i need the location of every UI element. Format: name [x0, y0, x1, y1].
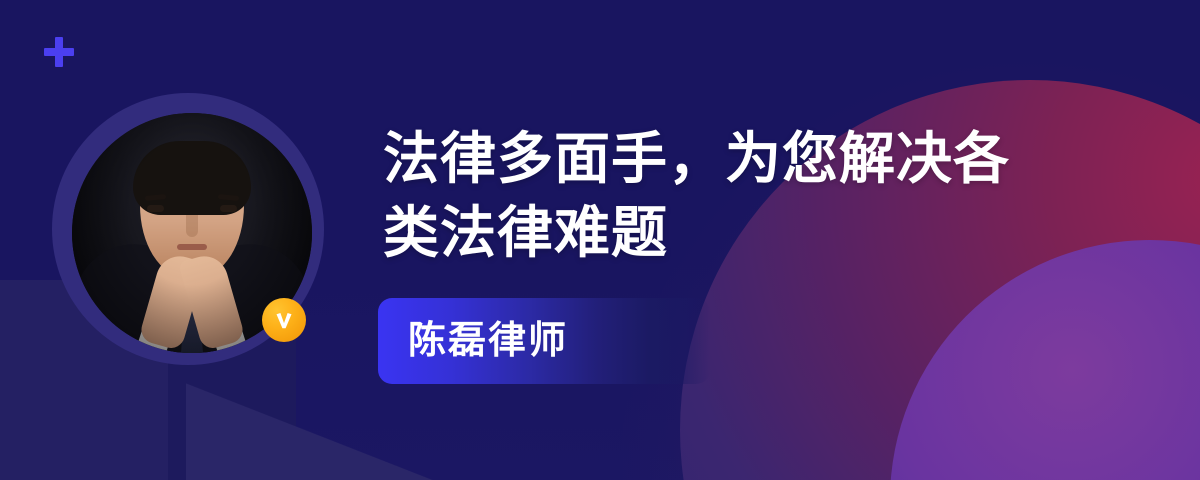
verified-badge	[262, 298, 306, 342]
headline-block: 法律多面手，为您解决各 类法律难题	[383, 122, 1123, 270]
lawyer-promo-banner: 法律多面手，为您解决各 类法律难题 陈磊律师	[0, 0, 1200, 480]
lawyer-name-label: 陈磊律师	[408, 322, 568, 360]
plus-icon-vertical-bar	[55, 37, 63, 67]
decorative-triangle	[186, 383, 436, 480]
avatar	[52, 93, 348, 389]
page-title: 法律多面手，为您解决各 类法律难题	[383, 122, 1123, 270]
verified-v-icon	[271, 307, 297, 333]
lawyer-name-badge[interactable]: 陈磊律师	[378, 298, 710, 384]
plus-icon	[44, 37, 74, 67]
